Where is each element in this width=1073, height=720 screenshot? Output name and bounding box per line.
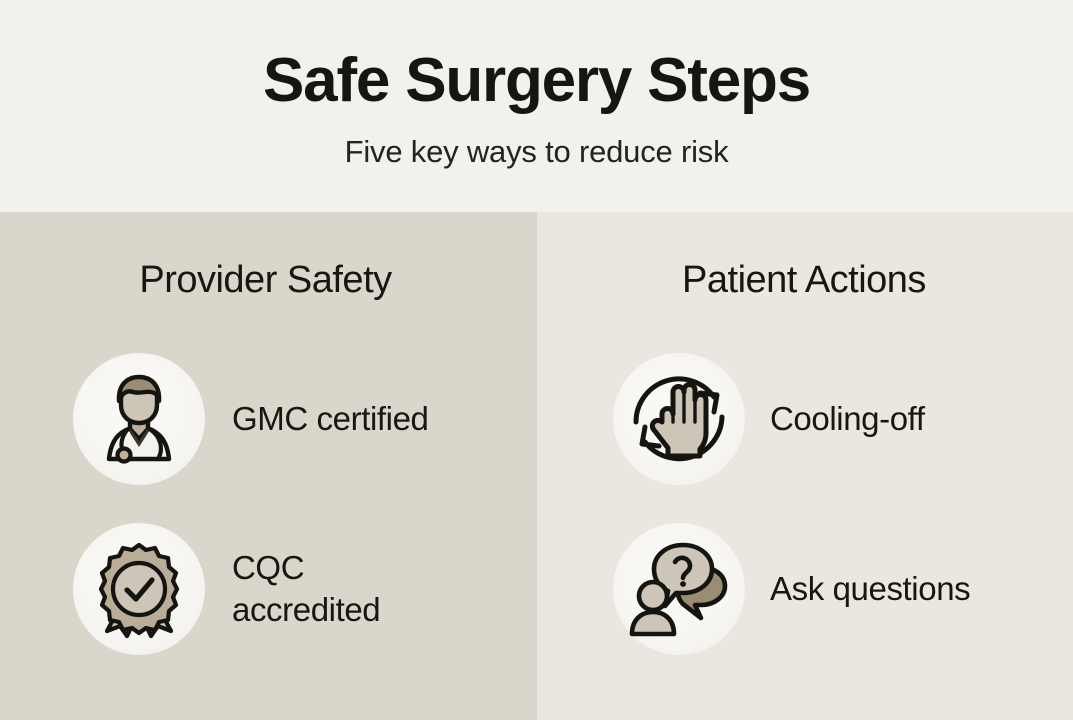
page-subtitle: Five key ways to reduce risk bbox=[345, 113, 729, 169]
list-item-label: Cooling-off bbox=[770, 398, 925, 440]
award-rosette-icon bbox=[73, 523, 205, 655]
page-title: Safe Surgery Steps bbox=[263, 48, 810, 113]
column-heading-provider-safety: Provider Safety bbox=[0, 260, 534, 302]
header-band: Safe Surgery Steps Five key ways to redu… bbox=[0, 0, 1073, 212]
column-heading-patient-actions: Patient Actions bbox=[536, 260, 1072, 302]
person-question-speech-icon bbox=[613, 523, 745, 655]
list-item-label: CQC accredited bbox=[232, 547, 380, 631]
list-item[interactable]: Ask questions bbox=[537, 504, 1073, 674]
doctor-icon bbox=[73, 353, 205, 485]
columns-container: Provider Safety bbox=[0, 212, 1073, 720]
provider-safety-items: GMC certified bbox=[0, 334, 537, 674]
list-item-label: GMC certified bbox=[232, 398, 429, 440]
column-patient-actions: Patient Actions bbox=[537, 212, 1073, 720]
hand-stop-cycle-icon bbox=[613, 353, 745, 485]
list-item[interactable]: CQC accredited bbox=[0, 504, 537, 674]
list-item[interactable]: GMC certified bbox=[0, 334, 537, 504]
patient-actions-items: Cooling-off bbox=[537, 334, 1073, 674]
infographic-canvas: Safe Surgery Steps Five key ways to redu… bbox=[0, 0, 1073, 720]
list-item[interactable]: Cooling-off bbox=[537, 334, 1073, 504]
column-provider-safety: Provider Safety bbox=[0, 212, 537, 720]
list-item-label: Ask questions bbox=[770, 568, 970, 610]
